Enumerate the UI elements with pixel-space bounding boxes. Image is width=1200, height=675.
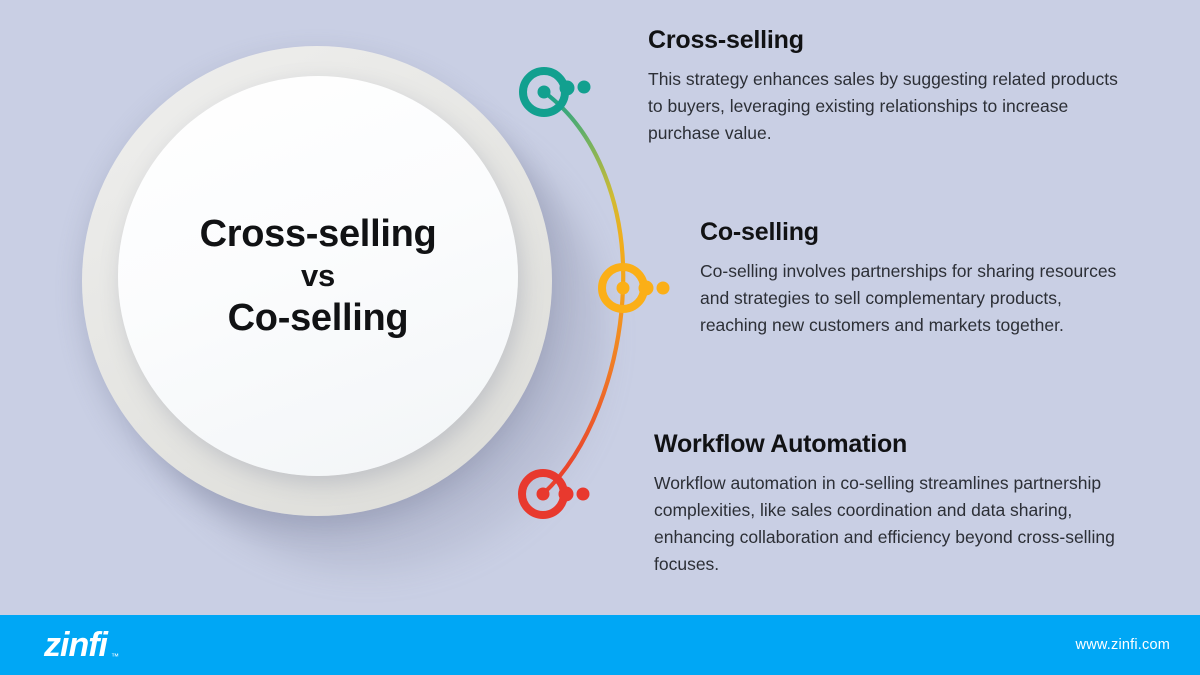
footer-bar: zinfi™ www.zinfi.com	[0, 615, 1200, 675]
slide-canvas: Cross-selling vs Co-selling	[0, 0, 1200, 675]
trademark-symbol: ™	[111, 653, 119, 661]
content-block-cross-selling: Cross-selling This strategy enhances sal…	[648, 26, 1118, 147]
block-title: Co-selling	[700, 218, 1130, 247]
block-body: This strategy enhances sales by suggesti…	[648, 66, 1118, 147]
content-block-co-selling: Co-selling Co-selling involves partnersh…	[700, 218, 1130, 339]
block-title: Cross-selling	[648, 26, 1118, 55]
zinfi-logo[interactable]: zinfi™	[44, 628, 119, 662]
content-blocks: Cross-selling This strategy enhances sal…	[0, 0, 1200, 615]
block-body: Co-selling involves partnerships for sha…	[700, 258, 1130, 339]
block-title: Workflow Automation	[654, 430, 1124, 459]
zinfi-logo-text: zinfi	[44, 626, 107, 664]
content-block-workflow-automation: Workflow Automation Workflow automation …	[654, 430, 1124, 579]
block-body: Workflow automation in co-selling stream…	[654, 470, 1124, 579]
footer-website-url[interactable]: www.zinfi.com	[1076, 637, 1170, 653]
